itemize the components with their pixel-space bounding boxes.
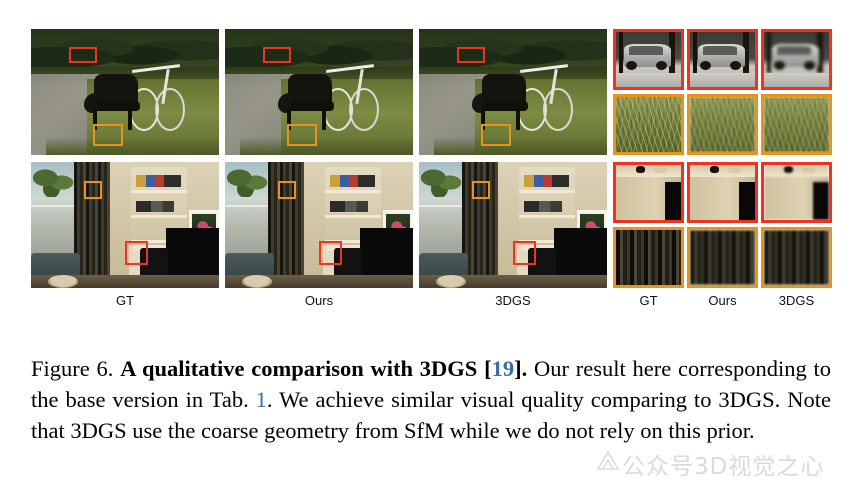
crop-marker-red [457,47,485,63]
crop-marker-orange [84,181,103,199]
foreground-soil [240,137,413,155]
comparison-figure-grid [31,29,832,288]
table-object-light [802,167,815,174]
hat-on-floor [48,275,78,288]
shelf-top [325,190,381,193]
crop-red-gt-car [613,29,684,90]
hat-on-floor [242,275,272,288]
zoom-curtain-folds [690,230,755,285]
caption-figure-number: Figure 6. [31,356,113,381]
citation-link-19[interactable]: 19 [492,356,515,381]
cropcol-ours-bicycle [687,29,758,155]
table-object-dark [784,166,793,173]
crop-marker-red [319,241,342,265]
panel-gt-livingroom [31,162,219,288]
shelf-items-middle [330,201,368,212]
crop-marker-red [69,47,97,63]
panel-3dgs-bicycle [419,29,607,155]
foreground-soil [434,137,607,155]
zoom-curtain-folds [764,230,829,285]
bicycle-wheel-front [543,88,573,131]
crop-red-3dgs-car [761,29,832,90]
zoom-table-corner [690,165,755,220]
shelf-middle [131,215,187,218]
table-object-light [654,167,667,174]
crop-orange-3dgs-grass [761,94,832,155]
table-object-dark [710,166,719,173]
zoom-grass-detail [616,97,681,152]
bicycle-handlebar [326,64,374,73]
bench-backrest [94,74,137,103]
column-label-gt-full: GT [31,292,219,310]
crop-red-ours-car [687,29,758,90]
crop-orange-ours-curtain [687,227,758,288]
monitor [166,228,219,281]
bicycle-wheel-front [155,88,185,131]
table-object-light [728,167,741,174]
fence-post-left [693,32,698,73]
bench-leg-right [322,109,326,130]
bench-backrest [482,74,525,103]
car-window [777,46,811,55]
shelf-items-middle [136,201,174,212]
crop-red-gt-table [613,162,684,223]
window-foliage [421,165,462,198]
car-tire-front [730,61,741,70]
crop-marker-red [125,241,148,265]
road-surface [764,73,829,87]
panel-3dgs-livingroom [419,162,607,288]
car-window [629,46,663,55]
watermark-text: 公众号3D视觉之心 [622,447,824,481]
window-mullion [419,205,468,207]
scene-bicycle-bench-lawn [31,29,219,155]
table-surface [764,165,829,177]
watermark-logo-icon [596,449,620,471]
crop-orange-ours-grass [687,94,758,155]
car-window [703,46,737,55]
cropcol-gt-livingroom [613,162,684,288]
zoom-grass-detail [764,97,829,152]
panel-ours-livingroom [225,162,413,288]
scene-living-room [225,162,413,288]
shelf-items-top [136,175,181,188]
figure-caption: Figure 6. A qualitative comparison with … [31,353,831,446]
bench-leg-right [128,109,132,130]
panel-gt-bicycle [31,29,219,155]
monitor [360,228,413,281]
column-label-3dgs-crop: 3DGS [761,292,832,310]
crop-marker-red [513,241,536,265]
table-surface [616,165,681,177]
crop-marker-red [263,47,291,63]
figure-row-livingroom [31,162,832,288]
bench-leg-right [516,109,520,130]
shelf-top [131,190,187,193]
car-tire-rear [774,61,785,70]
hat-on-floor [436,275,466,288]
cropcol-ours-livingroom [687,162,758,288]
cropcol-gt-bicycle [613,29,684,155]
figure-row-bicycle [31,29,832,155]
cropcol-3dgs-livingroom [761,162,832,288]
foreground-soil [46,137,219,155]
crop-orange-gt-grass [613,94,684,155]
column-label-3dgs-full: 3DGS [419,292,607,310]
car-tire-rear [626,61,637,70]
car-tire-front [656,61,667,70]
crop-orange-3dgs-curtain [761,227,832,288]
figure-page: GT Ours 3DGS GT Ours 3DGS Figure 6. A qu… [0,0,856,500]
column-label-ours-full: Ours [225,292,413,310]
zoom-parked-car [616,32,681,87]
car-tire-rear [700,61,711,70]
column-label-row: GT Ours 3DGS GT Ours 3DGS [31,292,832,312]
window-foliage [227,165,268,198]
zoom-grass-detail [690,97,755,152]
scene-living-room [419,162,607,288]
scene-bicycle-bench-lawn [419,29,607,155]
bicycle-handlebar [132,64,180,73]
zoom-table-corner [616,165,681,220]
table-surface [690,165,755,177]
caption-bold-title: A qualitative comparison with 3DGS [ [120,356,491,381]
window-mullion [31,205,80,207]
chair-back-dark [665,182,681,221]
shelf-top [519,190,575,193]
fence-post-left [619,32,624,73]
table-object-dark [636,166,645,173]
chair-back-dark [739,182,755,221]
shelf-items-top [330,175,375,188]
zoom-parked-car [764,32,829,87]
window-mullion [225,205,274,207]
crop-marker-orange [472,181,491,199]
bicycle-handlebar [520,64,568,73]
crop-orange-gt-curtain [613,227,684,288]
caption-bold-title-end: ]. [514,356,527,381]
window-foliage [33,165,74,198]
car-tire-front [804,61,815,70]
crop-marker-orange [278,181,297,199]
shelf-middle [519,215,575,218]
road-surface [616,73,681,87]
road-surface [690,73,755,87]
shelf-middle [325,215,381,218]
crop-red-3dgs-table [761,162,832,223]
panel-ours-bicycle [225,29,413,155]
bicycle-wheel-front [349,88,379,131]
crop-red-ours-table [687,162,758,223]
column-label-ours-crop: Ours [687,292,758,310]
shelf-items-top [524,175,569,188]
watermark: 公众号3D视觉之心 [596,443,846,483]
monitor [554,228,607,281]
scene-bicycle-bench-lawn [225,29,413,155]
zoom-table-corner [764,165,829,220]
table-link-1[interactable]: 1 [256,387,267,412]
scene-living-room [31,162,219,288]
crop-marker-orange [481,124,511,147]
zoom-curtain-folds [616,230,681,285]
zoom-parked-car [690,32,755,87]
chair-back-dark [813,182,829,221]
column-label-gt-crop: GT [613,292,684,310]
crop-marker-orange [287,124,317,147]
crop-marker-orange [93,124,123,147]
bench-backrest [288,74,331,103]
shelf-items-middle [524,201,562,212]
cropcol-3dgs-bicycle [761,29,832,155]
fence-post-left [767,32,772,73]
